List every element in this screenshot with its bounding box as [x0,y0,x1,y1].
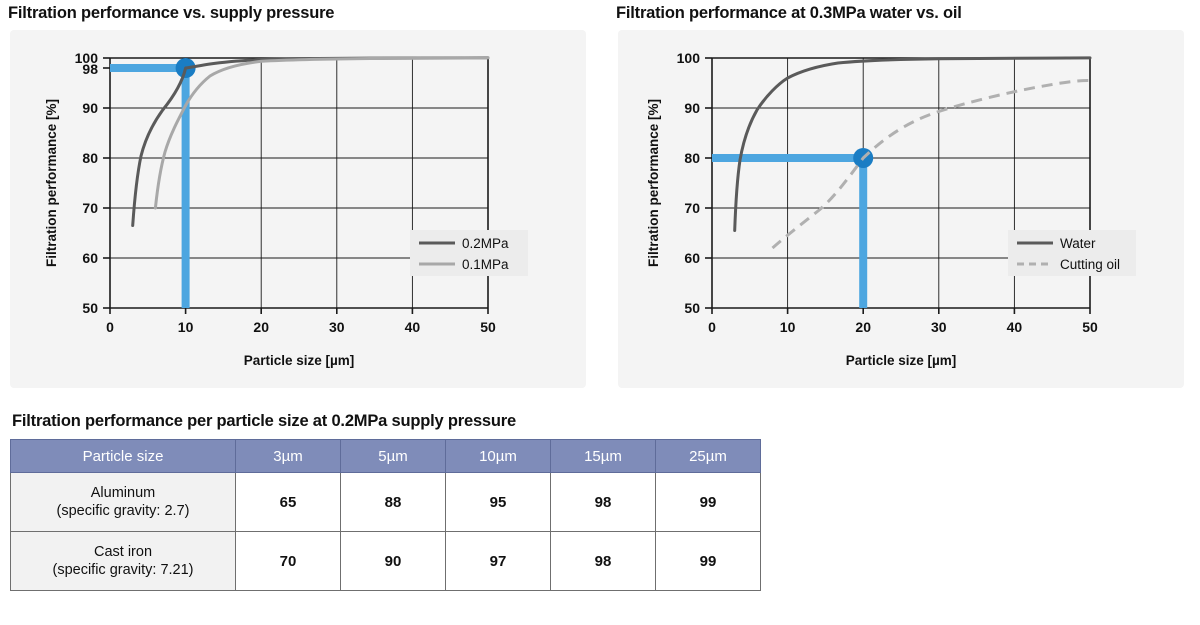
y-tick-labels-2: 100 90 80 70 60 50 [677,50,701,316]
y-tick-label: 98 [82,61,98,77]
y-axis-ticks-1 [103,58,110,308]
y-tick-label: 90 [684,100,700,116]
table-header-cell: 3µm [236,440,341,473]
y-tick-label: 60 [82,250,98,266]
y-tick-label: 50 [684,300,700,316]
legend-label-0: 0.2MPa [462,236,509,251]
series-line-0.1MPa [155,58,488,208]
table-row: Aluminum (specific gravity: 2.7) 65 88 9… [11,473,761,532]
chart-panel-water-vs-oil: Filtration performance at 0.3MPa water v… [608,0,1194,392]
table-header-cell: 5µm [341,440,446,473]
y-tick-label: 70 [82,200,98,216]
table-header-cell: 25µm [656,440,761,473]
y-tick-label: 50 [82,300,98,316]
table-cell: 97 [446,532,551,591]
material-name: Aluminum [11,484,235,502]
table-header-cell: 15µm [551,440,656,473]
x-tick-label: 20 [855,319,871,335]
x-tick-label: 10 [780,319,796,335]
table-cell: 98 [551,532,656,591]
chart-surface-1: 100 98 90 70 80 60 50 0 10 20 30 40 50 P… [10,30,586,388]
x-axis-ticks-2 [712,308,1090,314]
chart-svg-1: 100 98 90 70 80 60 50 0 10 20 30 40 50 P… [10,30,586,388]
table-cell: 98 [551,473,656,532]
table-header-cell: Particle size [11,440,236,473]
x-tick-label: 10 [178,319,194,335]
highlight-guides-1 [110,58,196,308]
x-axis-title-1: Particle size [µm] [244,353,355,368]
x-tick-label: 50 [1082,319,1098,335]
x-tick-label: 20 [253,319,269,335]
table-row: Cast iron (specific gravity: 7.21) 70 90… [11,532,761,591]
material-gravity: (specific gravity: 2.7) [11,502,235,520]
table-section: Filtration performance per particle size… [10,412,770,591]
table-header-cell: 10µm [446,440,551,473]
legend-label-1: 0.1MPa [462,257,509,272]
x-tick-labels-1: 0 10 20 30 40 50 [106,319,496,335]
chart-title-1: Filtration performance vs. supply pressu… [8,2,586,26]
y-tick-label: 70 [684,200,700,216]
y-tick-label: 100 [677,50,701,66]
y-tick-label: 90 [82,100,98,116]
table-cell: 90 [341,532,446,591]
y-axis-title-2: Filtration performance [%] [646,99,661,267]
chart-panel-supply-pressure: Filtration performance vs. supply pressu… [0,0,586,392]
y-tick-label: 80 [684,150,700,166]
x-tick-labels-2: 0 10 20 30 40 50 [708,319,1098,335]
table-row-label: Cast iron (specific gravity: 7.21) [11,532,236,591]
y-axis-ticks-2 [705,58,712,308]
x-tick-label: 30 [931,319,947,335]
table-cell: 95 [446,473,551,532]
material-gravity: (specific gravity: 7.21) [11,561,235,579]
legend-label-0: Water [1060,236,1096,251]
chart-svg-2: 100 90 80 70 60 50 0 10 20 30 40 50 Part… [618,30,1184,388]
x-tick-label: 0 [708,319,716,335]
table-cell: 99 [656,532,761,591]
material-name: Cast iron [11,543,235,561]
chart-title-2: Filtration performance at 0.3MPa water v… [616,2,1194,26]
x-tick-label: 50 [480,319,496,335]
legend-1: 0.2MPa 0.1MPa [410,230,528,276]
table-cell: 70 [236,532,341,591]
legend-label-1: Cutting oil [1060,257,1120,272]
legend-2: Water Cutting oil [1008,230,1136,276]
series-line-cutting-oil [773,80,1091,248]
y-axis-title-1: Filtration performance [%] [44,99,59,267]
filtration-performance-table: Particle size 3µm 5µm 10µm 15µm 25µm Alu… [10,439,761,591]
table-header-row: Particle size 3µm 5µm 10µm 15µm 25µm [11,440,761,473]
x-tick-label: 40 [1007,319,1023,335]
table-title: Filtration performance per particle size… [12,412,770,431]
y-tick-label: 60 [684,250,700,266]
x-tick-label: 0 [106,319,114,335]
x-tick-label: 30 [329,319,345,335]
x-axis-title-2: Particle size [µm] [846,353,957,368]
x-tick-label: 40 [405,319,421,335]
y-tick-labels-1: 100 98 90 70 80 60 50 [75,50,99,316]
chart-surface-2: 100 90 80 70 60 50 0 10 20 30 40 50 Part… [618,30,1184,388]
table-cell: 99 [656,473,761,532]
y-tick-label: 80 [82,150,98,166]
table-row-label: Aluminum (specific gravity: 2.7) [11,473,236,532]
x-axis-ticks-1 [110,308,488,314]
table-cell: 65 [236,473,341,532]
table-cell: 88 [341,473,446,532]
